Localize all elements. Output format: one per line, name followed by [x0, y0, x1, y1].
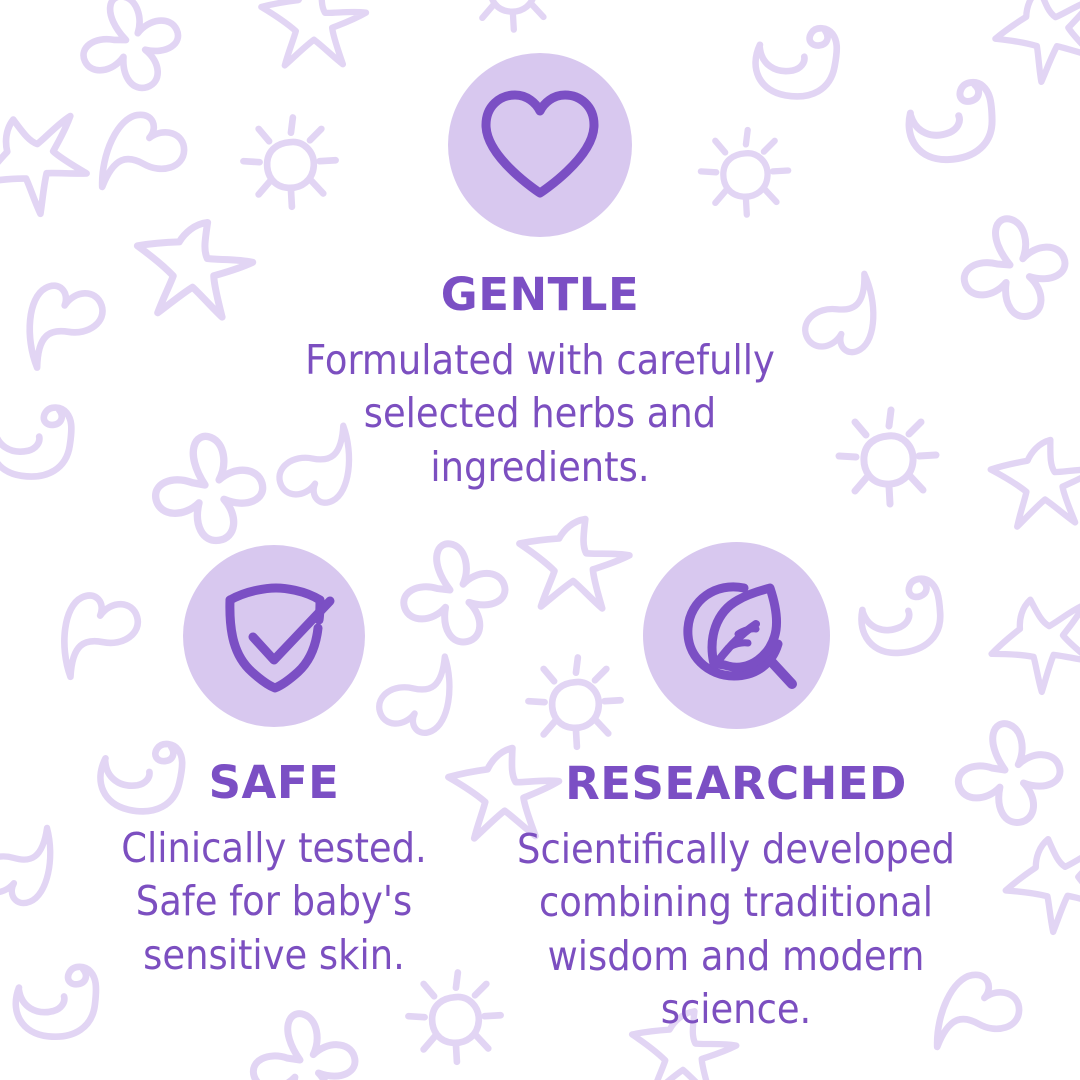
- safe-description: Clinically tested. Safe for baby's sensi…: [121, 822, 426, 982]
- researched-description: Scientifically developed combining tradi…: [506, 823, 966, 1036]
- feature-researched: RESEARCHED Scientifically developed comb…: [506, 542, 966, 1036]
- researched-title: RESEARCHED: [565, 761, 907, 806]
- gentle-description: Formulated with carefully selected herbs…: [305, 334, 775, 494]
- feature-gentle: GENTLE Formulated with carefully selecte…: [0, 53, 1080, 494]
- shield-check-icon: [210, 574, 338, 698]
- safe-icon-circle: [183, 545, 365, 727]
- heart-icon: [478, 89, 602, 201]
- safe-title: SAFE: [209, 760, 340, 805]
- promo-graphic: GENTLE Formulated with carefully selecte…: [0, 0, 1080, 1080]
- feature-safe: SAFE Clinically tested. Safe for baby's …: [44, 545, 504, 982]
- gentle-title: GENTLE: [441, 272, 639, 317]
- researched-icon-circle: [643, 542, 830, 729]
- leaf-magnifier-icon: [672, 572, 800, 700]
- gentle-icon-circle: [448, 53, 632, 237]
